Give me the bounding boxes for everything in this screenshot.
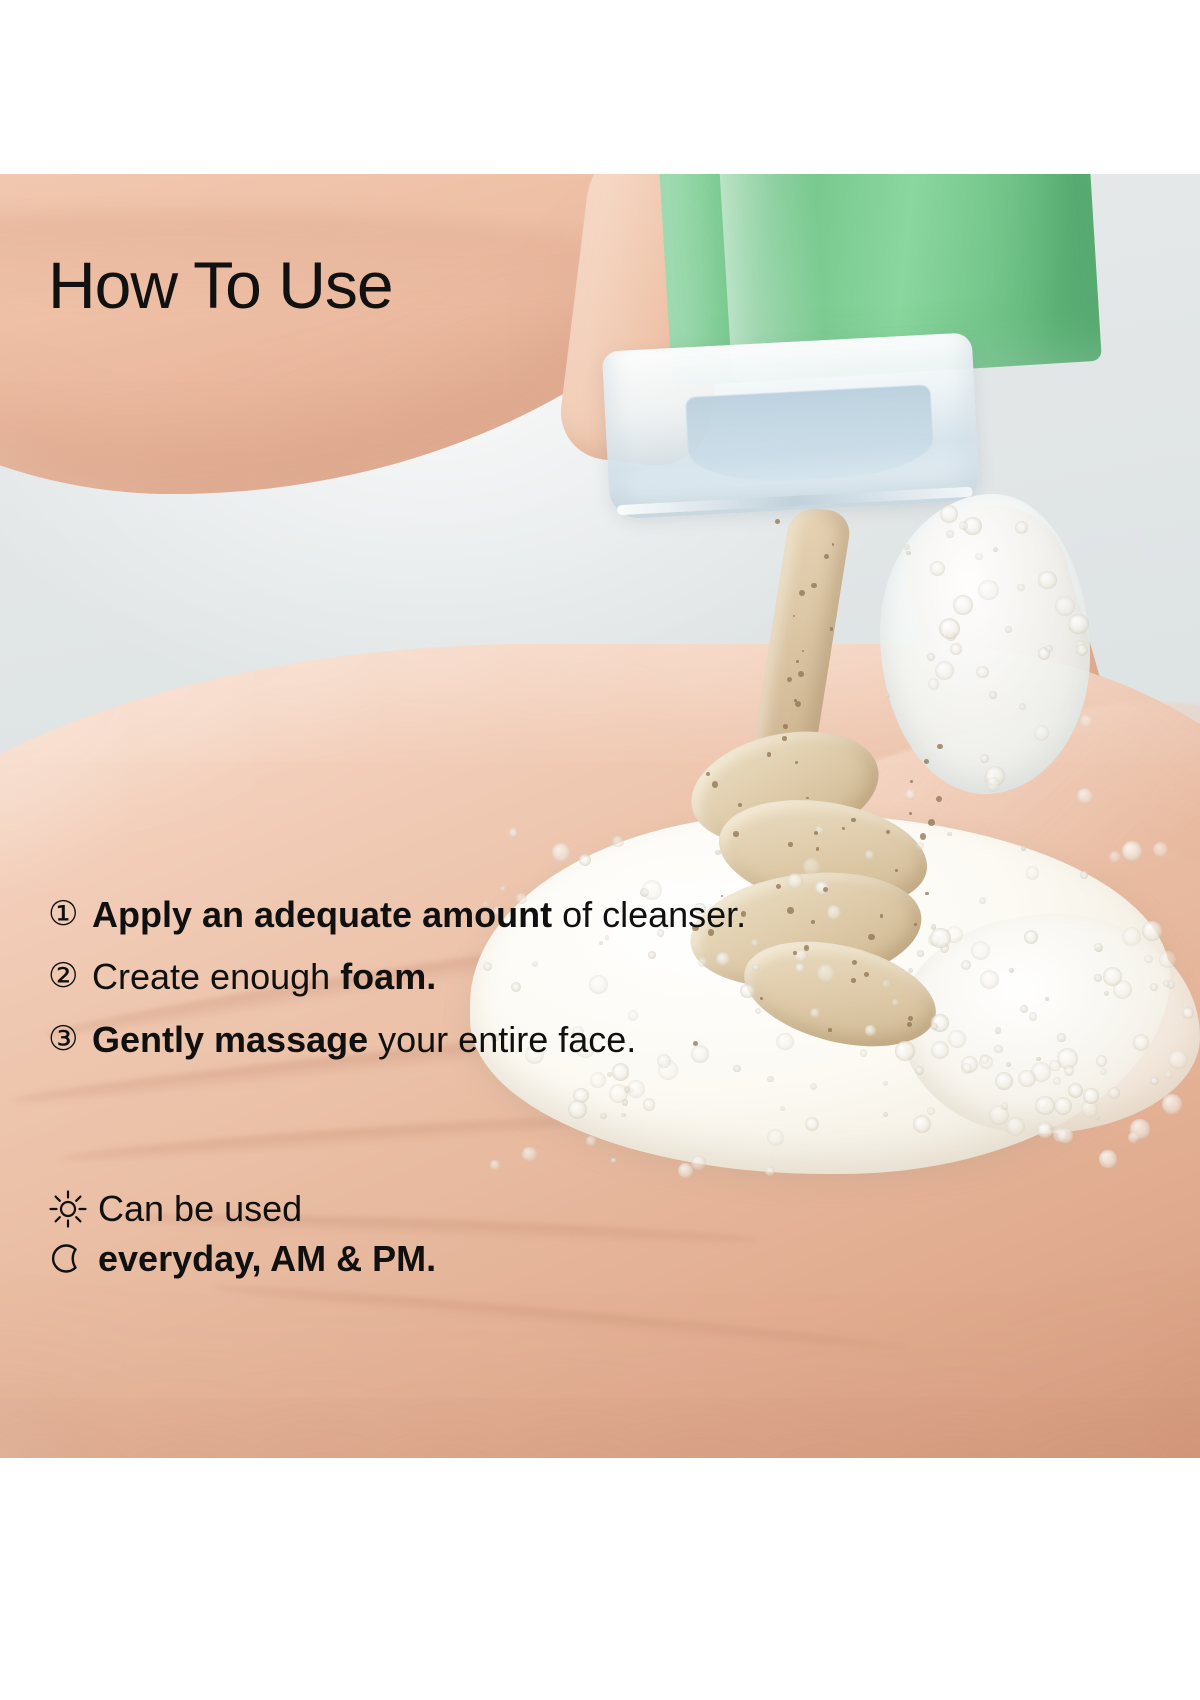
step-item-2: ② Create enough foam. bbox=[48, 956, 808, 998]
foam-bubble bbox=[953, 595, 972, 614]
step-text-1: Apply an adequate amount of cleanser. bbox=[92, 894, 808, 936]
foam-bubble bbox=[509, 828, 518, 837]
foam-bubble bbox=[1104, 991, 1109, 996]
foam-bubble bbox=[947, 832, 952, 837]
foam-bubble bbox=[995, 1072, 1013, 1090]
step-normal-3: your entire face. bbox=[368, 1019, 636, 1060]
foam-bubble bbox=[986, 777, 1000, 791]
foam-bubble bbox=[928, 678, 939, 689]
foam-bubble bbox=[989, 691, 997, 699]
exfoliant-speck bbox=[895, 869, 898, 872]
foam-bubble bbox=[905, 789, 916, 800]
foam-bubble bbox=[1053, 1128, 1067, 1142]
sun-icon bbox=[48, 1187, 98, 1231]
foam-bubble bbox=[865, 850, 875, 860]
foam-bubble bbox=[1099, 1150, 1117, 1168]
exfoliant-speck bbox=[886, 830, 890, 834]
foam-bubble bbox=[767, 1129, 784, 1146]
foam-bubble bbox=[1109, 851, 1122, 864]
pump-collar bbox=[602, 332, 980, 519]
instruction-steps: ① Apply an adequate amount of cleanser. … bbox=[48, 894, 808, 1081]
foam-bubble bbox=[1133, 1034, 1149, 1050]
foam-bubble bbox=[1024, 930, 1038, 944]
exfoliant-speck bbox=[851, 818, 856, 823]
step-marker-1: ① bbox=[48, 894, 92, 935]
exfoliant-speck bbox=[852, 960, 857, 965]
foam-bubble bbox=[1164, 1070, 1173, 1079]
foam-bubble bbox=[552, 843, 571, 862]
foam-bubble bbox=[500, 886, 506, 892]
step-item-1: ① Apply an adequate amount of cleanser. bbox=[48, 894, 808, 936]
foam-bubble bbox=[1026, 866, 1039, 879]
foam-bubble bbox=[643, 1098, 656, 1111]
foam-bubble bbox=[1162, 1094, 1182, 1114]
foam-bubble bbox=[1168, 1050, 1187, 1069]
foam-bubble bbox=[1064, 1065, 1074, 1075]
foam-bubble bbox=[931, 924, 936, 929]
foam-bubble bbox=[1001, 1102, 1008, 1109]
exfoliant-speck bbox=[775, 519, 780, 524]
foam-bubble bbox=[927, 653, 935, 661]
foam-bubble bbox=[917, 950, 923, 956]
step-bold-2: foam. bbox=[340, 956, 436, 997]
foam-bubble bbox=[948, 1030, 966, 1048]
foam-bubble bbox=[1076, 644, 1088, 656]
foam-bubble bbox=[883, 1081, 888, 1086]
foam-bubble bbox=[930, 928, 950, 948]
foam-bubble bbox=[1029, 1012, 1038, 1021]
moon-icon bbox=[48, 1237, 98, 1281]
pump-collar-inner bbox=[686, 385, 934, 485]
foam-bubble bbox=[1034, 725, 1049, 740]
usage-row-day: Can be used bbox=[48, 1186, 436, 1232]
foam-bubble bbox=[621, 1113, 626, 1118]
foam-bubble bbox=[600, 1113, 607, 1120]
foam-bubble bbox=[715, 850, 720, 855]
foam-bubble bbox=[1018, 1070, 1036, 1088]
foam-bubble bbox=[817, 964, 835, 982]
step-marker-2: ② bbox=[48, 956, 92, 997]
foam-bubble bbox=[1055, 596, 1075, 616]
exfoliant-speck bbox=[788, 842, 792, 846]
foam-bubble bbox=[959, 521, 968, 530]
foam-bubble bbox=[978, 580, 998, 600]
foam-bubble bbox=[1038, 571, 1056, 589]
how-to-use-page: How To Use ① Apply an adequate amount of… bbox=[0, 0, 1200, 1700]
exfoliant-speck bbox=[851, 978, 855, 982]
exfoliant-speck bbox=[907, 1022, 912, 1027]
foam-bubble bbox=[939, 618, 960, 639]
foam-bubble bbox=[611, 1158, 615, 1162]
step-lead-2: Create enough bbox=[92, 956, 340, 997]
foam-bubble bbox=[1182, 1007, 1194, 1019]
foam-bubble bbox=[1083, 1088, 1098, 1103]
exfoliant-speck bbox=[783, 724, 788, 729]
exfoliant-speck bbox=[823, 887, 828, 892]
foam-bubble bbox=[895, 1041, 914, 1060]
foam-bubble bbox=[1159, 951, 1176, 968]
exfoliant-speck bbox=[806, 797, 809, 800]
foam-bubble bbox=[995, 1027, 1002, 1034]
foam-bubble bbox=[1036, 1057, 1041, 1062]
foam-bubble bbox=[1054, 1097, 1072, 1115]
foam-bubble bbox=[892, 999, 899, 1006]
page-title: How To Use bbox=[48, 252, 393, 318]
foam-bubble bbox=[1053, 1077, 1061, 1085]
foam-bubble bbox=[930, 561, 945, 576]
exfoliant-speck bbox=[868, 934, 874, 940]
foam-bubble bbox=[971, 941, 990, 960]
exfoliant-speck bbox=[767, 752, 772, 757]
foam-bubble bbox=[609, 1084, 628, 1103]
foam-bubble bbox=[906, 551, 910, 555]
exfoliant-speck bbox=[712, 781, 719, 788]
exfoliant-speck bbox=[925, 892, 928, 895]
foam-bubble bbox=[1096, 947, 1102, 953]
foam-bubble bbox=[1096, 1055, 1107, 1066]
foam-bubble bbox=[975, 553, 983, 561]
foam-bubble bbox=[1150, 1077, 1158, 1085]
step-text-3: Gently massage your entire face. bbox=[92, 1019, 808, 1061]
step-normal-1: of cleanser. bbox=[552, 894, 746, 935]
exfoliant-speck bbox=[842, 827, 845, 830]
foam-bubble bbox=[916, 842, 923, 849]
foam-bubble bbox=[882, 980, 890, 988]
exfoliant-speck bbox=[796, 660, 799, 663]
usage-day-label: Can be used bbox=[98, 1186, 436, 1232]
exfoliant-speck bbox=[928, 819, 935, 826]
foam-bubble bbox=[1005, 626, 1012, 633]
foam-bubble bbox=[827, 905, 841, 919]
exfoliant-speck bbox=[864, 972, 869, 977]
foam-bubble bbox=[490, 1160, 500, 1170]
exfoliant-speck bbox=[814, 831, 818, 835]
foam-bubble bbox=[915, 1066, 924, 1075]
usage-row-night: everyday, AM & PM. bbox=[48, 1236, 436, 1282]
exfoliant-speck bbox=[802, 650, 804, 652]
foam-bubble bbox=[935, 661, 954, 680]
foam-bubble bbox=[803, 858, 820, 875]
foam-bubble bbox=[961, 1063, 972, 1074]
foam-bubble bbox=[1077, 788, 1093, 804]
foam-bubble bbox=[1144, 955, 1152, 963]
exfoliant-speck bbox=[832, 543, 834, 545]
exfoliant-speck bbox=[733, 831, 738, 836]
foam-bubble bbox=[586, 1136, 595, 1145]
exfoliant-speck bbox=[924, 759, 929, 764]
pump-collar-rim bbox=[617, 487, 972, 516]
step-bold-1: Apply an adequate amount bbox=[92, 894, 552, 935]
exfoliant-speck bbox=[798, 671, 804, 677]
foam-bubble bbox=[865, 1025, 876, 1036]
foam-at-nozzle bbox=[880, 494, 1090, 794]
exfoliant-speck bbox=[880, 914, 883, 917]
foam-bubble bbox=[927, 1107, 935, 1115]
foam-bubble bbox=[1094, 974, 1102, 982]
step-marker-3: ③ bbox=[48, 1019, 92, 1060]
exfoliant-speck bbox=[828, 1028, 832, 1032]
foam-bubble bbox=[1035, 1096, 1055, 1116]
step-text-2: Create enough foam. bbox=[92, 956, 808, 998]
foam-bubble bbox=[691, 1155, 706, 1170]
foam-bubble bbox=[1045, 645, 1053, 653]
exfoliant-speck bbox=[782, 736, 786, 740]
foam-bubble bbox=[1019, 703, 1026, 710]
foam-bubble bbox=[980, 970, 999, 989]
exfoliant-speck bbox=[920, 833, 926, 839]
step-bold-3: Gently massage bbox=[92, 1019, 368, 1060]
usage-frequency: Can be used everyday, AM & PM. bbox=[48, 1186, 436, 1286]
foam-bubble bbox=[1080, 871, 1088, 879]
foam-bubble bbox=[1006, 1117, 1025, 1136]
foam-bubble bbox=[1068, 614, 1088, 634]
exfoliant-speck bbox=[909, 812, 912, 815]
foam-bubble bbox=[1150, 983, 1158, 991]
foam-bubble bbox=[1080, 714, 1093, 727]
foam-bubble bbox=[1128, 1132, 1139, 1143]
foam-bubble bbox=[993, 547, 998, 552]
foam-bubble bbox=[1006, 1062, 1011, 1067]
usage-night-label: everyday, AM & PM. bbox=[98, 1236, 436, 1282]
foam-bubble bbox=[1108, 1087, 1120, 1099]
foam-bubble bbox=[913, 1115, 931, 1133]
step-item-3: ③ Gently massage your entire face. bbox=[48, 1019, 808, 1061]
foam-bubble bbox=[979, 1055, 993, 1069]
foam-bubble bbox=[1021, 846, 1026, 851]
foam-bubble bbox=[904, 544, 910, 550]
foam-bubble bbox=[1068, 1083, 1083, 1098]
